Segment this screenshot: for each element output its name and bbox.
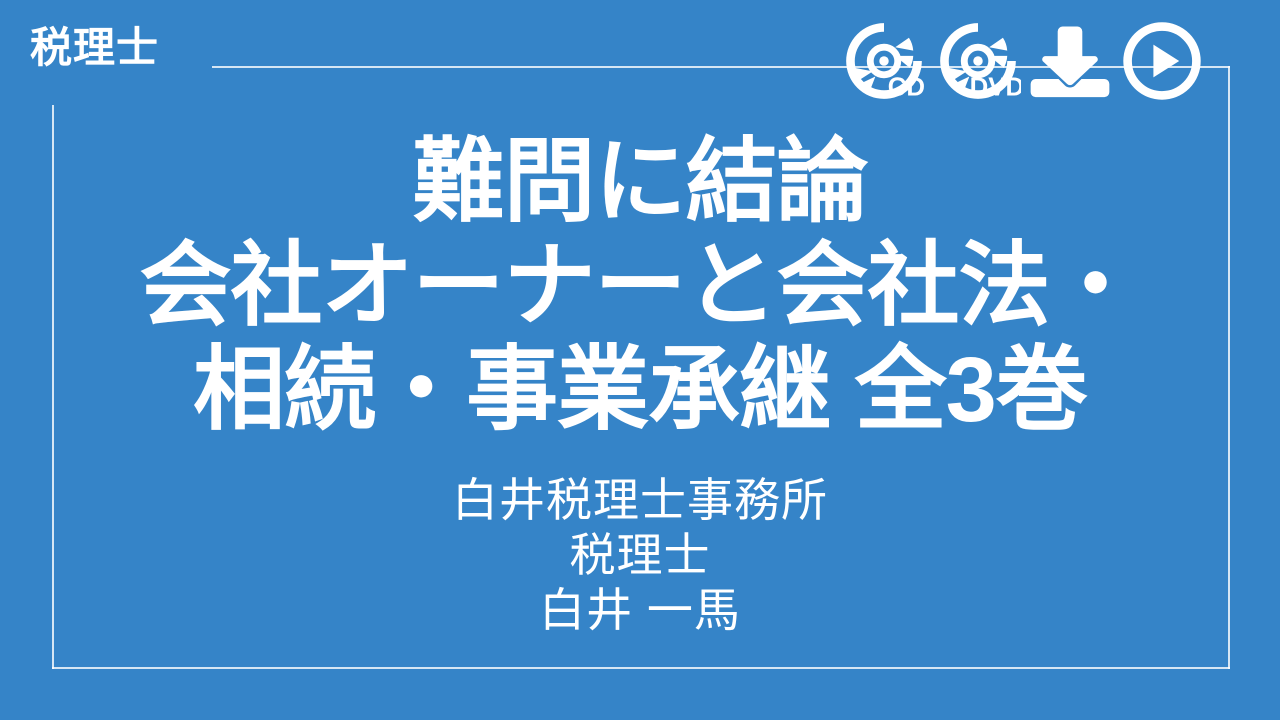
title-line-1: 難問に結論 <box>0 130 1280 234</box>
dvd-disc-icon-label: DVD <box>970 73 1021 101</box>
dvd-disc-icon: DVD <box>935 18 1021 104</box>
page-title: 難問に結論 会社オーナーと会社法・ 相続・事業承継 全3巻 <box>0 130 1280 442</box>
title-line-2: 会社オーナーと会社法・ <box>0 234 1280 338</box>
category-label: 税理士 <box>30 27 159 69</box>
presenter-info: 白井税理士事務所 税理士 白井 一馬 <box>0 473 1280 638</box>
frame-border-bottom <box>52 667 1230 669</box>
download-icon <box>1029 18 1111 104</box>
presentation-slide: 税理士 CD DVD <box>0 0 1280 720</box>
media-icon-strip: CD DVD <box>841 18 1205 104</box>
play-button-icon <box>1119 18 1205 104</box>
cd-disc-icon: CD <box>841 18 927 104</box>
cd-disc-icon-label: CD <box>888 73 925 101</box>
title-line-3: 相続・事業承継 全3巻 <box>0 338 1280 442</box>
presenter-name: 白井 一馬 <box>0 583 1280 638</box>
presenter-title: 税理士 <box>0 528 1280 583</box>
presenter-organization: 白井税理士事務所 <box>0 473 1280 528</box>
